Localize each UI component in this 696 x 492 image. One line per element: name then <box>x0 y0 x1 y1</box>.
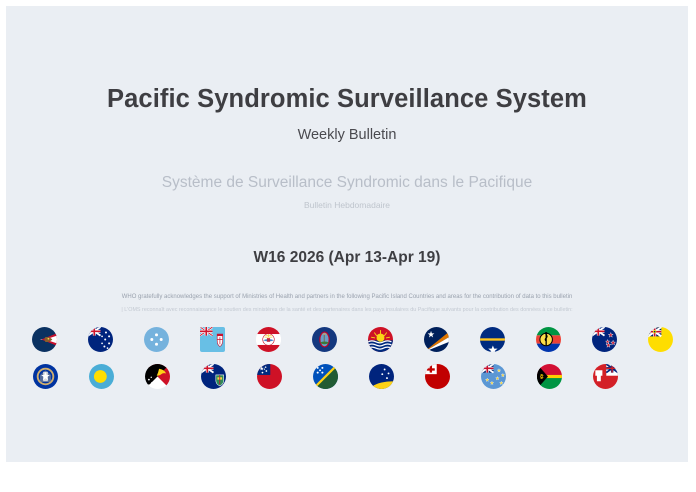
week-label: W16 2026 (Apr 13-Apr 19) <box>6 249 688 267</box>
flag-cell <box>577 364 633 389</box>
papua-new-guinea-flag-icon <box>145 364 170 389</box>
flag-cell <box>353 364 409 389</box>
flag-grid <box>6 321 688 395</box>
flag-cell <box>17 364 73 389</box>
french-polynesia-flag-icon <box>256 327 281 352</box>
flag-cell <box>73 364 129 389</box>
flag-cell <box>185 327 241 352</box>
flag-cell <box>129 327 185 352</box>
flag-cell <box>576 327 632 352</box>
page-subtitle: Weekly Bulletin <box>6 127 688 143</box>
cook-islands-flag-icon <box>88 327 113 352</box>
guam-flag-icon <box>312 327 337 352</box>
flag-row-1 <box>6 321 688 358</box>
american-samoa-flag-icon <box>32 327 57 352</box>
flag-cell <box>632 327 688 352</box>
tuvalu-flag-icon <box>481 364 506 389</box>
flag-cell <box>521 364 577 389</box>
flag-row-2 <box>6 358 688 395</box>
flag-cell <box>241 327 297 352</box>
fiji-flag-icon <box>200 327 225 352</box>
acknowledgement-english: WHO gratefully acknowledges the support … <box>6 294 688 300</box>
flag-cell <box>297 327 353 352</box>
flag-cell <box>17 327 73 352</box>
northern-mariana-islands-flag-icon <box>33 364 58 389</box>
new-caledonia-flag-icon <box>536 327 561 352</box>
flag-cell <box>465 364 521 389</box>
nauru-flag-icon <box>480 327 505 352</box>
page-title-french: Système de Surveillance Syndromic dans l… <box>6 174 688 192</box>
page-title: Pacific Syndromic Surveillance System <box>6 85 688 114</box>
vanuatu-flag-icon <box>537 364 562 389</box>
flag-cell <box>464 327 520 352</box>
tokelau-flag-icon <box>369 364 394 389</box>
flag-cell <box>73 327 129 352</box>
flag-cell <box>520 327 576 352</box>
page-subtitle-french: Bulletin Hebdomadaire <box>6 200 688 210</box>
palau-flag-icon <box>89 364 114 389</box>
samoa-flag-icon <box>257 364 282 389</box>
niue-flag-icon <box>648 327 673 352</box>
marshall-islands-flag-icon <box>424 327 449 352</box>
flag-cell <box>129 364 185 389</box>
acknowledgement-french: | L'OMS reconnaît avec reconnaissance le… <box>6 307 688 313</box>
wallis-and-futuna-flag-icon <box>593 364 618 389</box>
flag-cell <box>185 364 241 389</box>
flag-cell <box>408 327 464 352</box>
flag-cell <box>297 364 353 389</box>
pitcairn-islands-flag-icon <box>201 364 226 389</box>
bulletin-page: Pacific Syndromic Surveillance System We… <box>6 6 688 462</box>
solomon-islands-flag-icon <box>313 364 338 389</box>
kiribati-flag-icon <box>368 327 393 352</box>
flag-cell <box>353 327 409 352</box>
tonga-flag-icon <box>425 364 450 389</box>
flag-cell <box>409 364 465 389</box>
micronesia-flag-icon <box>144 327 169 352</box>
new-zealand-flag-icon <box>592 327 617 352</box>
flag-cell <box>241 364 297 389</box>
